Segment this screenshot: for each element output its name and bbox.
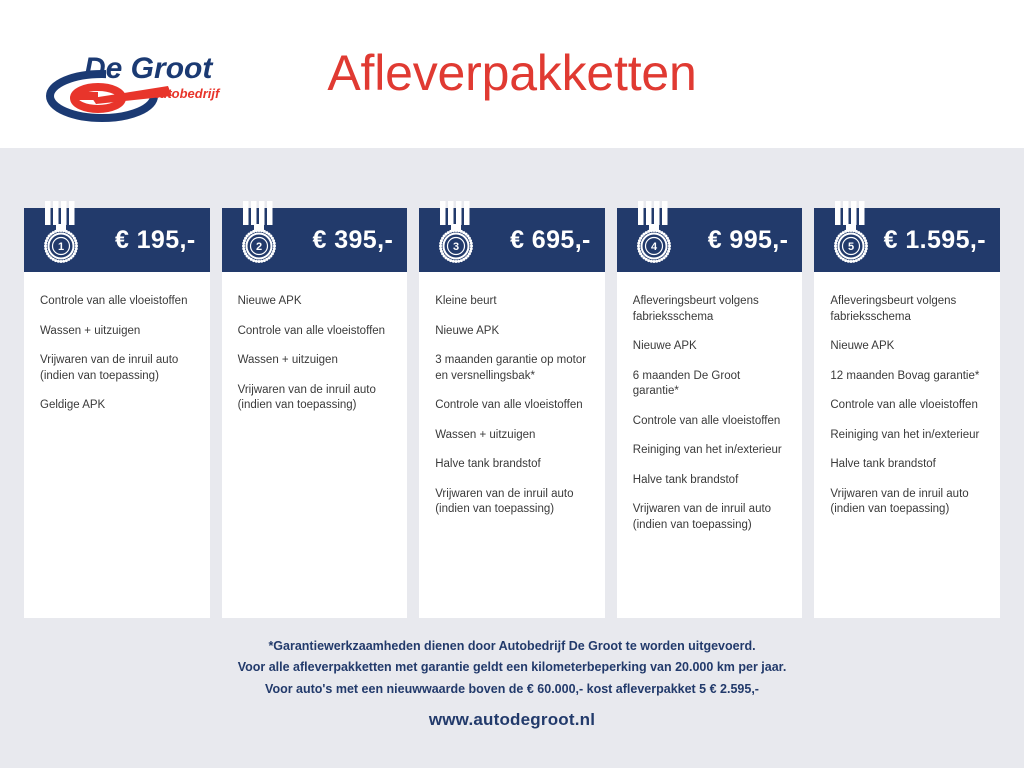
package-price: € 1.595,- — [884, 226, 986, 255]
package-card-4[interactable]: 4 € 995,-Afleveringsbeurt volgens fabrie… — [617, 208, 803, 618]
feature-item: Controle van alle vloeistoffen — [238, 324, 392, 340]
package-card-1[interactable]: 1 € 195,-Controle van alle vloeistoffenW… — [24, 208, 210, 618]
feature-item: Afleveringsbeurt volgens fabrieksschema — [633, 294, 787, 325]
package-price: € 995,- — [708, 226, 789, 255]
svg-text:5: 5 — [848, 241, 854, 253]
feature-item: Vrijwaren van de inruil auto (indien van… — [435, 487, 589, 518]
medal-icon: 2 — [236, 199, 282, 271]
package-header-3: 3 € 695,- — [419, 208, 605, 272]
package-header-2: 2 € 395,- — [222, 208, 408, 272]
svg-text:2: 2 — [256, 241, 262, 253]
feature-item: Reiniging van het in/exterieur — [830, 428, 984, 444]
medal-icon: 4 — [631, 199, 677, 271]
footer-line: Voor auto's met een nieuwwaarde boven de… — [0, 679, 1024, 700]
feature-item: Afleveringsbeurt volgens fabrieksschema — [830, 294, 984, 325]
feature-item: Vrijwaren van de inruil auto (indien van… — [238, 383, 392, 414]
package-price: € 695,- — [510, 226, 591, 255]
feature-item: 3 maanden garantie op motor en versnelli… — [435, 353, 589, 384]
feature-item: Nieuwe APK — [238, 294, 392, 310]
feature-item: Controle van alle vloeistoffen — [830, 398, 984, 414]
svg-text:3: 3 — [453, 241, 459, 253]
package-card-list: 1 € 195,-Controle van alle vloeistoffenW… — [24, 208, 1000, 618]
feature-item: Reiniging van het in/exterieur — [633, 443, 787, 459]
feature-item: Nieuwe APK — [830, 339, 984, 355]
website-url[interactable]: www.autodegroot.nl — [0, 710, 1024, 730]
footer-disclaimer: *Garantiewerkzaamheden dienen door Autob… — [0, 636, 1024, 700]
medal-icon: 4 — [631, 199, 677, 271]
package-card-5[interactable]: 5 € 1.595,-Afleveringsbeurt volgens fabr… — [814, 208, 1000, 618]
feature-item: Controle van alle vloeistoffen — [435, 398, 589, 414]
feature-item: Vrijwaren van de inruil auto (indien van… — [830, 487, 984, 518]
package-feature-list: Kleine beurtNieuwe APK3 maanden garantie… — [419, 272, 605, 618]
feature-item: 12 maanden Bovag garantie* — [830, 369, 984, 385]
package-feature-list: Controle van alle vloeistoffenWassen + u… — [24, 272, 210, 618]
feature-item: Nieuwe APK — [633, 339, 787, 355]
feature-item: Wassen + uitzuigen — [238, 353, 392, 369]
medal-icon: 5 — [828, 199, 874, 271]
feature-item: Geldige APK — [40, 398, 194, 414]
package-card-2[interactable]: 2 € 395,-Nieuwe APKControle van alle vlo… — [222, 208, 408, 618]
package-header-4: 4 € 995,- — [617, 208, 803, 272]
feature-item: Nieuwe APK — [435, 324, 589, 340]
page-title: Afleverpakketten — [0, 44, 1024, 102]
feature-item: Vrijwaren van de inruil auto (indien van… — [633, 502, 787, 533]
package-feature-list: Nieuwe APKControle van alle vloeistoffen… — [222, 272, 408, 618]
medal-icon: 1 — [38, 199, 84, 271]
package-feature-list: Afleveringsbeurt volgens fabrieksschemaN… — [814, 272, 1000, 618]
feature-item: Controle van alle vloeistoffen — [40, 294, 194, 310]
footer-line: Voor alle afleverpakketten met garantie … — [0, 657, 1024, 678]
medal-icon: 3 — [433, 199, 479, 271]
feature-item: Halve tank brandstof — [435, 457, 589, 473]
package-header-5: 5 € 1.595,- — [814, 208, 1000, 272]
package-price: € 195,- — [115, 226, 196, 255]
poster-page: De Groot Autobedrijf Afleverpakketten 1 … — [0, 0, 1024, 768]
svg-text:1: 1 — [58, 241, 64, 253]
feature-item: Halve tank brandstof — [830, 457, 984, 473]
package-header-1: 1 € 195,- — [24, 208, 210, 272]
feature-item: Wassen + uitzuigen — [435, 428, 589, 444]
medal-icon: 2 — [236, 199, 282, 271]
medal-icon: 1 — [38, 199, 84, 271]
package-card-3[interactable]: 3 € 695,-Kleine beurtNieuwe APK3 maanden… — [419, 208, 605, 618]
package-feature-list: Afleveringsbeurt volgens fabrieksschemaN… — [617, 272, 803, 618]
medal-icon: 5 — [828, 199, 874, 271]
svg-text:4: 4 — [651, 241, 658, 253]
feature-item: Kleine beurt — [435, 294, 589, 310]
footer-line: *Garantiewerkzaamheden dienen door Autob… — [0, 636, 1024, 657]
feature-item: Vrijwaren van de inruil auto (indien van… — [40, 353, 194, 384]
top-header-band: De Groot Autobedrijf Afleverpakketten — [0, 0, 1024, 148]
feature-item: 6 maanden De Groot garantie* — [633, 369, 787, 400]
medal-icon: 3 — [433, 199, 479, 271]
feature-item: Halve tank brandstof — [633, 473, 787, 489]
feature-item: Controle van alle vloeistoffen — [633, 414, 787, 430]
package-price: € 395,- — [313, 226, 394, 255]
feature-item: Wassen + uitzuigen — [40, 324, 194, 340]
